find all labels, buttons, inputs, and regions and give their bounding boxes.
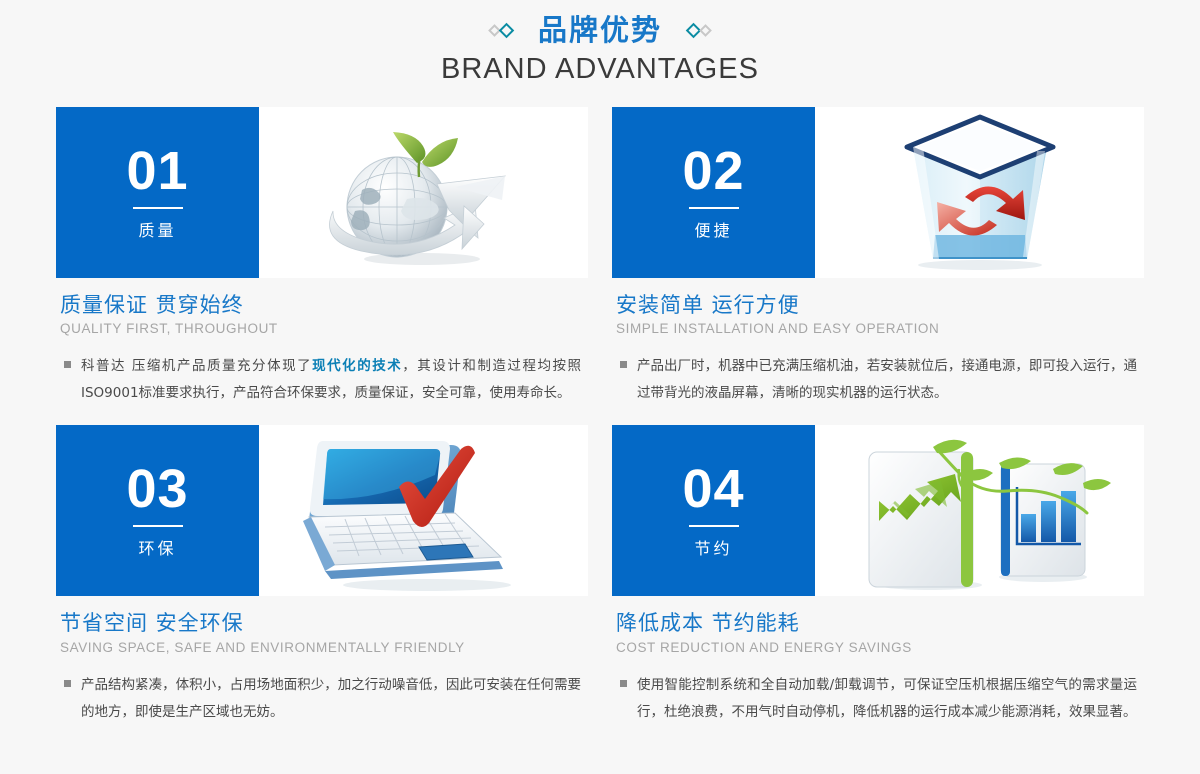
card-description-row: 产品结构紧凑，体积小，占用场地面积少，加之行动噪音低，因此可安装在任何需要的地方…	[60, 672, 588, 726]
glass-recycle-bin-with-red-arrows-icon	[815, 107, 1144, 278]
card-title-cn: 质量保证 贯穿始终	[60, 292, 588, 318]
right-diamond-ornament	[688, 25, 710, 36]
globe-with-sprout-and-arrow-icon	[259, 107, 588, 278]
card-tag: 便捷	[694, 217, 732, 241]
diamond-gray-icon	[699, 24, 712, 37]
divider-rule	[689, 525, 739, 527]
brand-advantages-grid: 01 质量	[56, 107, 1144, 726]
card-visual: 04 节约	[612, 425, 1144, 596]
diamond-teal-icon	[499, 22, 515, 38]
card-tag: 节约	[694, 535, 732, 559]
card-title-cn: 节省空间 安全环保	[60, 610, 588, 636]
divider-rule	[689, 207, 739, 209]
card-text: 降低成本 节约能耗 COST REDUCTION AND ENERGY SAVI…	[612, 596, 1144, 725]
card-description-row: 科普达 压缩机产品质量充分体现了现代化的技术，其设计和制造过程均按照ISO900…	[60, 353, 588, 407]
card-number-box: 04 节约	[612, 425, 815, 596]
desc-before: 科普达 压缩机产品质量充分体现了	[81, 358, 312, 374]
card-tag: 环保	[138, 535, 176, 559]
card-title-cn: 降低成本 节约能耗	[616, 610, 1144, 636]
card-description: 产品结构紧凑，体积小，占用场地面积少，加之行动噪音低，因此可安装在任何需要的地方…	[81, 672, 581, 726]
desc-before: 产品出厂时，机器中已充满压缩机油，若安装就位后，接通电源，即可投入运行，通过带背…	[637, 358, 1137, 401]
header-title-row: 品牌优势	[0, 10, 1200, 50]
green-growth-arrow-and-blue-bar-chart-cards-icon	[815, 425, 1144, 596]
bullet-square-icon	[620, 680, 627, 687]
card-text: 节省空间 安全环保 SAVING SPACE, SAFE AND ENVIRON…	[56, 596, 588, 725]
desc-before: 使用智能控制系统和全自动加载/卸载调节，可保证空压机根据压缩空气的需求量运行，杜…	[637, 677, 1137, 720]
advantage-card-01[interactable]: 01 质量	[56, 107, 588, 407]
page-title-en: BRAND ADVANTAGES	[0, 53, 1200, 86]
card-visual: 03 环保	[56, 425, 588, 596]
advantage-card-03[interactable]: 03 环保	[56, 425, 588, 725]
card-number: 01	[126, 144, 188, 198]
card-title-en: SAVING SPACE, SAFE AND ENVIRONMENTALLY F…	[60, 640, 588, 655]
card-description: 产品出厂时，机器中已充满压缩机油，若安装就位后，接通电源，即可投入运行，通过带背…	[637, 353, 1137, 407]
page-title-cn: 品牌优势	[538, 10, 662, 50]
desc-before: 产品结构紧凑，体积小，占用场地面积少，加之行动噪音低，因此可安装在任何需要的地方…	[81, 677, 581, 720]
advantage-card-04[interactable]: 04 节约	[612, 425, 1144, 725]
card-tag: 质量	[138, 217, 176, 241]
divider-rule	[133, 207, 183, 209]
blue-laptop-with-red-checkmark-icon	[259, 425, 588, 596]
card-number-box: 02 便捷	[612, 107, 815, 278]
card-description: 使用智能控制系统和全自动加载/卸载调节，可保证空压机根据压缩空气的需求量运行，杜…	[637, 672, 1137, 726]
page-header: 品牌优势 BRAND ADVANTAGES	[0, 0, 1200, 92]
card-visual: 01 质量	[56, 107, 588, 278]
left-diamond-ornament	[490, 25, 512, 36]
card-number: 03	[126, 462, 188, 516]
card-number: 02	[682, 144, 744, 198]
bullet-square-icon	[64, 361, 71, 368]
card-title-en: COST REDUCTION AND ENERGY SAVINGS	[616, 640, 1144, 655]
desc-highlight: 现代化的技术	[312, 358, 402, 374]
card-title-en: QUALITY FIRST, THROUGHOUT	[60, 321, 588, 336]
card-description-row: 使用智能控制系统和全自动加载/卸载调节，可保证空压机根据压缩空气的需求量运行，杜…	[616, 672, 1144, 726]
card-title-en: SIMPLE INSTALLATION AND EASY OPERATION	[616, 321, 1144, 336]
card-visual: 02 便捷	[612, 107, 1144, 278]
card-number-box: 01 质量	[56, 107, 259, 278]
advantage-card-02[interactable]: 02 便捷	[612, 107, 1144, 407]
card-number-box: 03 环保	[56, 425, 259, 596]
card-description: 科普达 压缩机产品质量充分体现了现代化的技术，其设计和制造过程均按照ISO900…	[81, 353, 581, 407]
card-number: 04	[682, 462, 744, 516]
bullet-square-icon	[64, 680, 71, 687]
card-text: 质量保证 贯穿始终 QUALITY FIRST, THROUGHOUT 科普达 …	[56, 278, 588, 407]
card-text: 安装简单 运行方便 SIMPLE INSTALLATION AND EASY O…	[612, 278, 1144, 407]
divider-rule	[133, 525, 183, 527]
bullet-square-icon	[620, 361, 627, 368]
card-title-cn: 安装简单 运行方便	[616, 292, 1144, 318]
card-description-row: 产品出厂时，机器中已充满压缩机油，若安装就位后，接通电源，即可投入运行，通过带背…	[616, 353, 1144, 407]
